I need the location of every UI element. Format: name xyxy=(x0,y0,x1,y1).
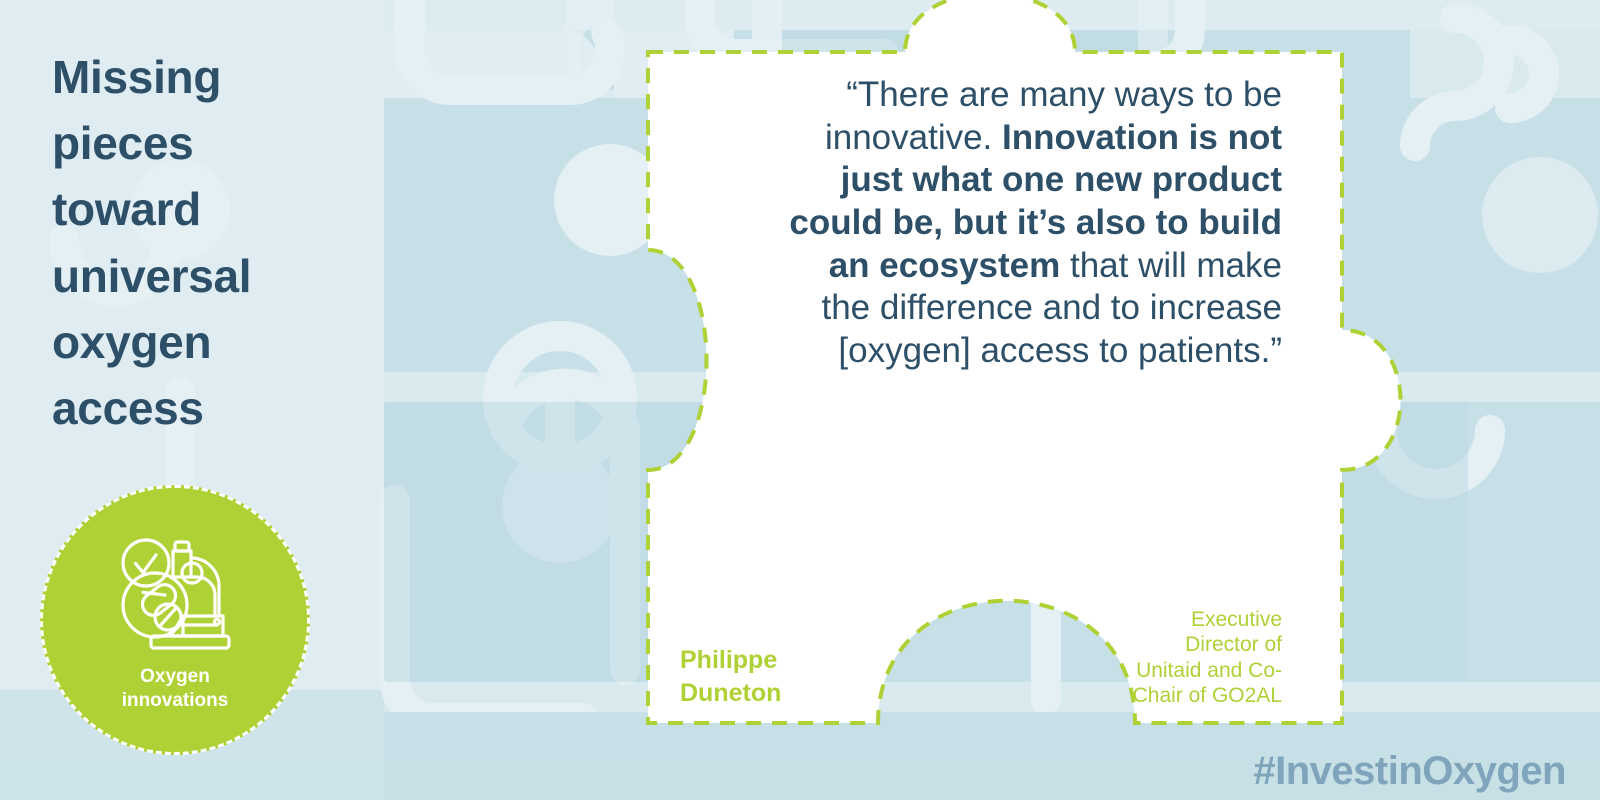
poster-canvas: Missing pieces toward universal oxygen a… xyxy=(0,0,1600,800)
oxygen-innovations-badge: Oxygen innovations xyxy=(40,485,310,755)
left-column: Missing pieces toward universal oxygen a… xyxy=(52,44,382,441)
microscope-pills-check-icon xyxy=(113,533,237,655)
quote-text: “There are many ways to be innovative. I… xyxy=(776,74,1282,373)
badge-label: Oxygen innovations xyxy=(122,665,229,713)
quote-card-content: “There are many ways to be innovative. I… xyxy=(648,52,1342,724)
attribution-role: Executive Director of Unitaid and Co- Ch… xyxy=(1082,607,1282,708)
page-title: Missing pieces toward universal oxygen a… xyxy=(52,44,382,441)
campaign-hashtag: #InvestinOxygen xyxy=(1253,749,1566,794)
attribution-name: Philippe Duneton xyxy=(680,644,880,710)
